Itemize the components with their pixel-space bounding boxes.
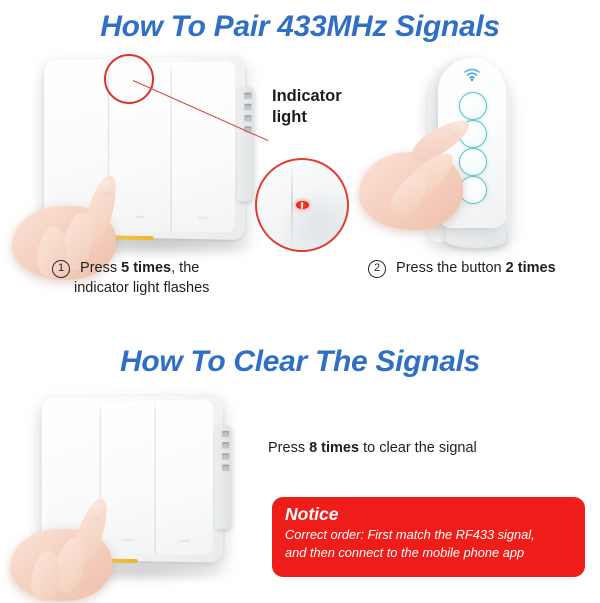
bubble-seam xyxy=(291,160,293,250)
step-2-caption: 2 Press the button 2 times xyxy=(368,259,588,279)
fingernail xyxy=(88,501,107,522)
step-2-bold: 2 times xyxy=(506,260,556,276)
notice-title: Notice xyxy=(285,504,573,524)
hand-pressing-remote xyxy=(383,108,493,228)
step-1-text: Press 5 times, the xyxy=(80,260,199,276)
clear-section-title: How To Clear The Signals xyxy=(0,345,600,379)
step-1-number: 1 xyxy=(52,260,70,278)
step-2-text: Press the button 2 times xyxy=(396,260,556,276)
switch-gang-3[interactable] xyxy=(156,400,213,556)
switch-vent xyxy=(244,104,251,110)
notice-line-2: and then connect to the mobile phone app xyxy=(285,544,573,562)
notice-line-1: Correct order: First match the RF433 sig… xyxy=(285,526,573,544)
indicator-light-callout: Indicator light xyxy=(272,86,382,128)
switch-vent xyxy=(222,431,229,437)
hand-pressing-switch-bottom xyxy=(10,495,140,600)
switch-vent xyxy=(244,93,251,99)
wifi-icon xyxy=(464,68,480,81)
step-2-prefix: Press the button xyxy=(396,260,506,276)
indicator-label-line1: Indicator xyxy=(272,87,342,105)
indicator-led xyxy=(296,201,309,209)
clear-caption-prefix: Press xyxy=(268,440,309,456)
switch-vent xyxy=(222,442,229,448)
gang-indicator-dot xyxy=(179,540,189,542)
pair-section-title: How To Pair 433MHz Signals xyxy=(0,10,600,44)
switch-vent xyxy=(244,115,251,121)
step-1-bold: 5 times xyxy=(121,260,171,276)
switch-gang-3[interactable] xyxy=(171,61,235,232)
step-1-caption: 1 Press 5 times, the indicator light fla… xyxy=(52,259,282,298)
notice-box: Notice Correct order: First match the RF… xyxy=(272,497,585,577)
step-1-line2: indicator light flashes xyxy=(74,279,282,299)
magnified-indicator-bubble xyxy=(255,158,349,252)
instruction-page: How To Pair 433MHz Signals xyxy=(0,0,600,600)
step-1-prefix: Press xyxy=(80,260,121,276)
clear-instruction-caption: Press 8 times to clear the signal xyxy=(268,440,477,456)
switch-vent xyxy=(222,465,229,471)
led-highlight xyxy=(301,202,303,209)
fingernail xyxy=(97,178,115,198)
clear-caption-suffix: to clear the signal xyxy=(359,440,477,456)
step-2-number: 2 xyxy=(368,260,386,278)
fingernail xyxy=(447,120,467,140)
annotation-circle-indicator xyxy=(104,54,154,104)
switch-vent xyxy=(222,453,229,459)
step-1-suffix: , the xyxy=(171,260,199,276)
indicator-label-line2: light xyxy=(272,108,307,126)
clear-caption-bold: 8 times xyxy=(309,440,359,456)
switch-side-panel xyxy=(215,425,231,530)
gang-indicator-dot xyxy=(198,217,208,219)
